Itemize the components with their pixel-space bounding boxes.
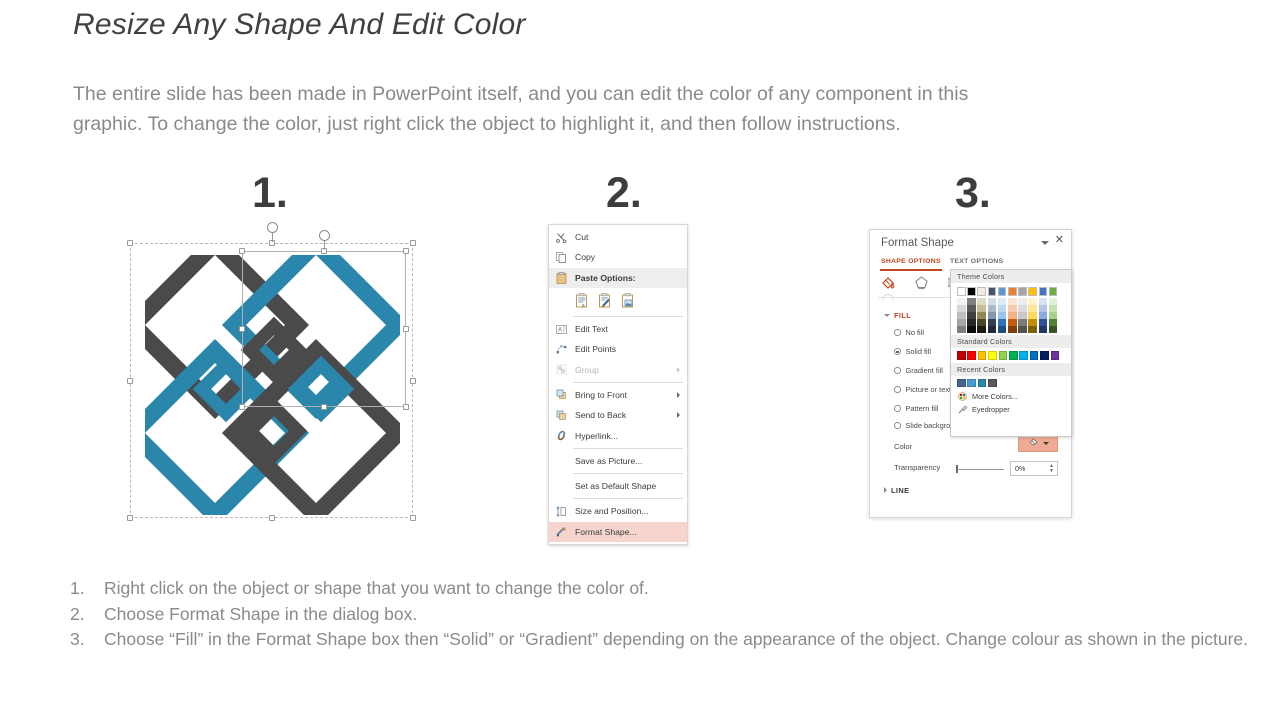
chevron-down-icon[interactable] — [1041, 241, 1049, 245]
context-menu-label: Format Shape... — [575, 527, 687, 537]
theme-color-swatch[interactable] — [1008, 305, 1017, 312]
radio-icon-selected — [894, 348, 901, 355]
step-number-3: 3. — [955, 172, 991, 215]
context-menu-label: Size and Position... — [575, 506, 687, 516]
menu-separator — [573, 473, 683, 474]
radio-icon — [894, 329, 901, 336]
context-menu-item-send-to-back[interactable]: Send to Back — [549, 405, 687, 425]
standard-color-swatch[interactable] — [1009, 351, 1018, 360]
shape-illustration-panel — [125, 233, 418, 525]
selection-handle-ne[interactable] — [410, 240, 416, 246]
palette-icon — [958, 392, 967, 401]
standard-color-swatch[interactable] — [999, 351, 1008, 360]
inner-handle-ne[interactable] — [403, 248, 409, 254]
transparency-value-field[interactable]: 0% ▲▼ — [1010, 461, 1058, 476]
standard-color-swatch[interactable] — [1051, 351, 1060, 360]
intro-paragraph: The entire slide has been made in PowerP… — [73, 79, 1213, 139]
transparency-slider-track[interactable] — [958, 469, 1004, 470]
close-icon[interactable]: ✕ — [1055, 235, 1064, 246]
group-icon — [553, 363, 569, 377]
instruction-item: 2. Choose Format Shape in the dialog box… — [70, 602, 1270, 628]
eyedropper-option[interactable]: Eyedropper — [951, 403, 1071, 416]
eyedropper-icon — [958, 405, 967, 414]
inner-handle-e[interactable] — [403, 326, 409, 332]
standard-colors-heading: Standard Colors — [951, 335, 1071, 348]
paste-icon — [553, 271, 569, 285]
theme-color-swatch[interactable] — [1049, 298, 1058, 305]
context-menu-item-group[interactable]: Group — [549, 359, 687, 379]
theme-color-swatch[interactable] — [1049, 305, 1058, 312]
radio-gradient-fill[interactable]: Gradient fill — [894, 366, 943, 375]
theme-color-swatch[interactable] — [998, 319, 1007, 326]
recent-colors-heading: Recent Colors — [951, 363, 1071, 376]
instruction-text: Choose Format Shape in the dialog box. — [104, 602, 417, 628]
standard-color-swatch[interactable] — [978, 351, 987, 360]
context-menu-label: Copy — [575, 252, 687, 262]
copy-icon — [553, 250, 569, 264]
edit-text-icon: A — [553, 322, 569, 336]
context-menu-item-bring-to-front[interactable]: Bring to Front — [549, 385, 687, 405]
selection-handle-e[interactable] — [410, 378, 416, 384]
size-position-icon — [553, 504, 569, 518]
eyedropper-label: Eyedropper — [972, 405, 1010, 414]
theme-color-swatch[interactable] — [1039, 312, 1048, 319]
color-label: Color — [894, 442, 912, 451]
submenu-arrow-icon — [677, 412, 680, 418]
context-menu-label: Group — [575, 365, 677, 375]
tab-text-options[interactable]: TEXT OPTIONS — [950, 258, 1003, 265]
standard-color-swatch[interactable] — [957, 351, 966, 360]
context-menu[interactable]: Cut Copy Paste Options: a A Edit Text — [548, 224, 688, 545]
radio-solid-fill[interactable]: Solid fill — [894, 347, 931, 356]
context-menu-label: Save as Picture... — [575, 456, 687, 466]
theme-color-swatch[interactable] — [1028, 326, 1037, 333]
context-menu-item-edit-text[interactable]: A Edit Text — [549, 319, 687, 339]
theme-color-swatch[interactable] — [1018, 319, 1027, 326]
theme-color-swatch[interactable] — [988, 298, 997, 305]
standard-colors-row[interactable] — [951, 348, 1071, 363]
theme-color-swatch[interactable] — [1039, 305, 1048, 312]
theme-color-swatch[interactable] — [988, 305, 997, 312]
theme-color-swatch[interactable] — [967, 326, 976, 333]
page-title: Resize Any Shape And Edit Color — [73, 8, 526, 42]
instruction-number: 3. — [70, 627, 104, 653]
pentagon-effects-icon[interactable] — [913, 275, 930, 291]
radio-label: Solid fill — [906, 347, 931, 356]
context-menu-item-edit-points[interactable]: Edit Points — [549, 339, 687, 359]
theme-color-swatch[interactable] — [977, 326, 986, 333]
context-menu-item-format-shape[interactable]: Format Shape... — [549, 522, 687, 542]
theme-color-swatch[interactable] — [1049, 326, 1058, 333]
recent-color-swatch[interactable] — [988, 379, 997, 388]
radio-label: No fill — [906, 328, 924, 337]
theme-color-swatch[interactable] — [1028, 298, 1037, 305]
standard-color-swatch[interactable] — [1040, 351, 1049, 360]
step-number-2: 2. — [606, 172, 642, 215]
transparency-label: Transparency — [894, 463, 940, 472]
theme-color-swatch[interactable] — [1028, 319, 1037, 326]
inner-handle-s[interactable] — [321, 404, 327, 410]
selection-handle-nw[interactable] — [127, 240, 133, 246]
context-menu-label: Paste Options: — [575, 273, 687, 283]
intro-line-2: graphic. To change the color, just right… — [73, 109, 1213, 139]
context-menu-item-size-and-position[interactable]: Size and Position... — [549, 501, 687, 521]
transparency-slider-knob[interactable] — [956, 465, 958, 473]
theme-color-swatch[interactable] — [957, 312, 966, 319]
more-colors-option[interactable]: More Colors... — [951, 390, 1071, 403]
theme-color-swatch[interactable] — [1008, 312, 1017, 319]
collapse-triangle-icon — [884, 487, 887, 493]
instruction-number: 2. — [70, 602, 104, 628]
theme-color-swatch[interactable] — [1018, 298, 1027, 305]
context-menu-item-set-default-shape[interactable]: Set as Default Shape — [549, 476, 687, 496]
theme-color-swatch[interactable] — [977, 312, 986, 319]
context-menu-item-paste-options[interactable]: Paste Options: — [549, 268, 687, 288]
standard-color-swatch[interactable] — [1030, 351, 1039, 360]
radio-icon — [894, 367, 901, 374]
selection-handle-sw[interactable] — [127, 515, 133, 521]
theme-color-swatch[interactable] — [957, 326, 966, 333]
theme-color-swatch[interactable] — [1008, 319, 1017, 326]
paste-picture-icon[interactable] — [621, 293, 635, 308]
theme-color-swatch[interactable] — [988, 319, 997, 326]
standard-color-swatch[interactable] — [967, 351, 976, 360]
context-menu-item-hyperlink[interactable]: Hyperlink... — [549, 425, 687, 445]
context-menu-label: Set as Default Shape — [575, 481, 687, 491]
theme-color-swatch[interactable] — [1008, 287, 1017, 296]
bring-to-front-icon — [553, 388, 569, 402]
instruction-item: 3. Choose “Fill” in the Format Shape box… — [70, 627, 1270, 653]
inner-handle-w[interactable] — [239, 326, 245, 332]
theme-color-swatch[interactable] — [967, 319, 976, 326]
theme-color-swatch[interactable] — [1008, 326, 1017, 333]
context-menu-label: Edit Points — [575, 344, 687, 354]
expand-triangle-icon — [884, 314, 890, 317]
submenu-arrow-icon — [677, 392, 680, 398]
theme-color-swatch[interactable] — [1049, 287, 1058, 296]
theme-color-swatch[interactable] — [1018, 326, 1027, 333]
theme-color-swatch[interactable] — [967, 312, 976, 319]
inner-handle-nw[interactable] — [239, 248, 245, 254]
submenu-arrow-icon — [677, 367, 680, 373]
theme-color-swatch[interactable] — [957, 287, 966, 296]
fill-bucket-icon[interactable] — [880, 275, 897, 291]
menu-separator — [573, 316, 683, 317]
theme-color-swatch[interactable] — [1028, 287, 1037, 296]
theme-color-swatch[interactable] — [957, 298, 966, 305]
radio-no-fill[interactable]: No fill — [894, 328, 924, 337]
spinner-arrows-icon[interactable]: ▲▼ — [1049, 464, 1054, 474]
theme-color-swatch[interactable] — [1028, 305, 1037, 312]
standard-color-swatch[interactable] — [1019, 351, 1028, 360]
radio-pattern-fill[interactable]: Pattern fill — [894, 404, 938, 413]
theme-color-swatch[interactable] — [988, 326, 997, 333]
theme-color-swatch[interactable] — [957, 319, 966, 326]
theme-color-swatch[interactable] — [1049, 319, 1058, 326]
menu-separator — [573, 498, 683, 499]
theme-color-swatch[interactable] — [998, 287, 1007, 296]
format-shape-pane[interactable]: Format Shape ✕ SHAPE OPTIONS TEXT OPTION… — [869, 229, 1072, 518]
context-menu-item-cut[interactable]: Cut — [549, 227, 687, 247]
theme-colors-heading: Theme Colors — [951, 270, 1071, 283]
step-number-1: 1. — [252, 172, 288, 215]
theme-color-swatch[interactable] — [1018, 287, 1027, 296]
theme-color-swatch[interactable] — [1049, 312, 1058, 319]
tab-active-underline — [880, 269, 942, 271]
theme-color-swatch[interactable] — [988, 312, 997, 319]
fill-section-label: FILL — [894, 311, 911, 320]
menu-separator — [573, 448, 683, 449]
inner-handle-se[interactable] — [403, 404, 409, 410]
standard-color-swatch[interactable] — [988, 351, 997, 360]
format-shape-title: Format Shape — [881, 237, 954, 249]
selection-handle-s[interactable] — [269, 515, 275, 521]
fill-color-icon — [1027, 435, 1040, 453]
theme-color-swatch[interactable] — [1039, 326, 1048, 333]
inner-selection-box[interactable] — [242, 251, 406, 407]
paste-keep-source-icon[interactable]: a — [575, 293, 589, 308]
inner-handle-sw[interactable] — [239, 404, 245, 410]
context-menu-label: Edit Text — [575, 324, 687, 334]
radio-icon — [894, 422, 901, 429]
hyperlink-icon — [553, 429, 569, 443]
theme-color-swatch[interactable] — [1028, 312, 1037, 319]
instruction-text: Choose “Fill” in the Format Shape box th… — [104, 627, 1270, 653]
radio-icon — [894, 405, 901, 412]
recent-color-swatch[interactable] — [967, 379, 976, 388]
svg-text:A: A — [558, 327, 562, 333]
edit-points-icon — [553, 342, 569, 356]
line-section-header[interactable]: LINE — [884, 486, 909, 495]
svg-text:a: a — [582, 303, 585, 308]
theme-color-swatch[interactable] — [998, 298, 1007, 305]
theme-color-swatch[interactable] — [977, 305, 986, 312]
line-section-label: LINE — [891, 486, 909, 495]
theme-color-swatch[interactable] — [977, 319, 986, 326]
theme-color-swatch[interactable] — [1008, 298, 1017, 305]
send-to-back-icon — [553, 408, 569, 422]
menu-separator — [573, 382, 683, 383]
context-menu-label: Hyperlink... — [575, 431, 687, 441]
selection-handle-w[interactable] — [127, 378, 133, 384]
context-menu-item-save-as-picture[interactable]: Save as Picture... — [549, 451, 687, 471]
theme-color-swatch[interactable] — [1018, 305, 1027, 312]
intro-line-1: The entire slide has been made in PowerP… — [73, 83, 968, 105]
theme-color-swatch[interactable] — [1039, 287, 1048, 296]
theme-color-swatch[interactable] — [1039, 319, 1048, 326]
theme-color-swatch[interactable] — [967, 298, 976, 305]
context-menu-item-copy[interactable]: Copy — [549, 247, 687, 267]
transparency-value: 0% — [1015, 464, 1025, 473]
paste-options-row[interactable]: a — [549, 288, 687, 314]
theme-color-swatch[interactable] — [967, 287, 976, 296]
color-dropdown-arrow-icon[interactable] — [1043, 442, 1049, 445]
instruction-item: 1. Right click on the object or shape th… — [70, 576, 1270, 602]
instruction-number: 1. — [70, 576, 104, 602]
theme-colors-grid[interactable] — [951, 283, 1071, 335]
rotation-handle-outer[interactable] — [267, 222, 278, 233]
radio-icon — [894, 386, 901, 393]
tab-shape-options[interactable]: SHAPE OPTIONS — [881, 258, 941, 265]
selection-handle-se[interactable] — [410, 515, 416, 521]
context-menu-label: Bring to Front — [575, 390, 677, 400]
no-icon — [553, 479, 569, 493]
theme-color-swatch[interactable] — [967, 305, 976, 312]
theme-color-swatch[interactable] — [988, 287, 997, 296]
color-picker-flyout[interactable]: Theme Colors Standard Colors Recent Colo… — [950, 269, 1072, 437]
theme-color-swatch[interactable] — [998, 326, 1007, 333]
theme-color-swatch[interactable] — [998, 312, 1007, 319]
theme-color-swatch[interactable] — [1039, 298, 1048, 305]
fill-section-header[interactable]: FILL — [884, 311, 911, 320]
fill-color-button[interactable] — [1018, 435, 1058, 452]
radio-label: Pattern fill — [906, 404, 939, 413]
theme-color-swatch[interactable] — [998, 305, 1007, 312]
theme-color-swatch[interactable] — [957, 305, 966, 312]
instruction-text: Right click on the object or shape that … — [104, 576, 649, 602]
format-shape-icon — [553, 525, 569, 539]
recent-color-swatch[interactable] — [957, 379, 966, 388]
paste-style-icon[interactable] — [598, 293, 612, 308]
instructions-list: 1. Right click on the object or shape th… — [70, 576, 1270, 653]
theme-color-swatch[interactable] — [977, 298, 986, 305]
scissors-icon — [553, 230, 569, 244]
more-colors-label: More Colors... — [972, 392, 1018, 401]
context-menu-label: Send to Back — [575, 410, 677, 420]
radio-label: Gradient fill — [906, 366, 943, 375]
no-icon — [553, 454, 569, 468]
rotation-handle-inner[interactable] — [319, 230, 330, 241]
theme-color-swatch[interactable] — [977, 287, 986, 296]
theme-color-swatch[interactable] — [1018, 312, 1027, 319]
recent-colors-row[interactable] — [951, 376, 1071, 391]
recent-color-swatch[interactable] — [978, 379, 987, 388]
context-menu-label: Cut — [575, 232, 687, 242]
